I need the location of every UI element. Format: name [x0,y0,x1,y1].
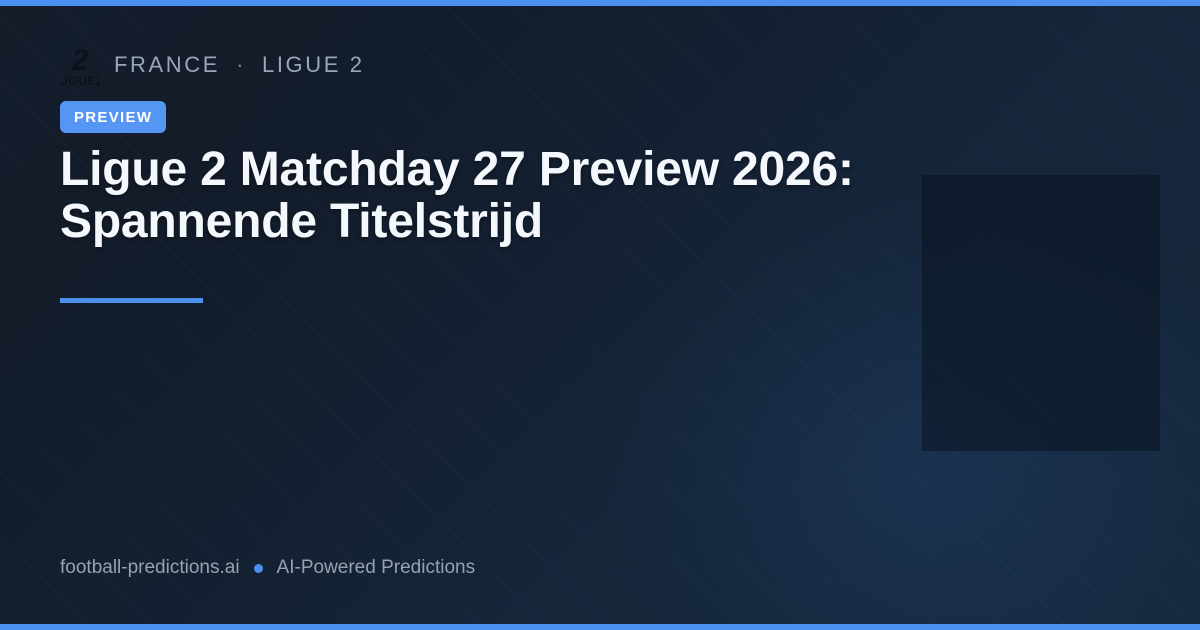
og-image-card: 2 LIGUE2 FRANCE · LIGUE 2 PREVIEW Ligue … [0,0,1200,630]
svg-text:2: 2 [71,44,89,77]
footer-tagline-label: AI-Powered Predictions [277,557,476,579]
preview-badge-label: PREVIEW [74,109,152,126]
page-title: Ligue 2 Matchday 27 Preview 2026: Spanne… [60,144,1000,248]
footer: football-predictions.ai AI-Powered Predi… [60,557,475,579]
card-content: 2 LIGUE2 FRANCE · LIGUE 2 PREVIEW Ligue … [60,0,1140,630]
league-header: 2 LIGUE2 FRANCE · LIGUE 2 [60,40,365,90]
ligue2-logo-icon: 2 LIGUE2 [60,40,100,90]
title-accent-rule [60,298,203,303]
league-country-label: FRANCE [114,52,220,78]
footer-site-label: football-predictions.ai [60,557,240,579]
preview-badge: PREVIEW [60,101,166,133]
svg-text:LIGUE2: LIGUE2 [60,74,100,88]
bullet-dot-icon [254,564,263,573]
league-separator: · [234,52,248,78]
league-competition-label: LIGUE 2 [262,52,365,78]
